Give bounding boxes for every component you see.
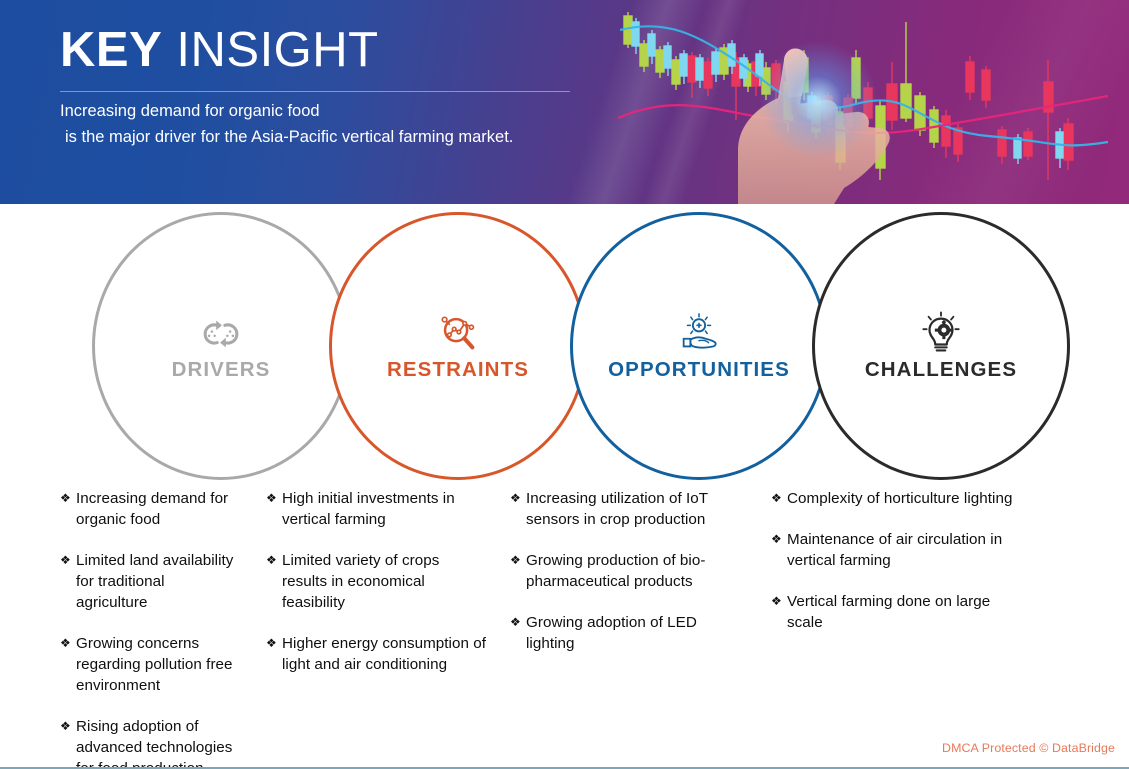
node-challenges[interactable]: CHALLENGES [812,212,1070,480]
column-drivers: ❖ Increasing demand for organic food ❖ L… [0,489,252,745]
bullet-diamond-icon: ❖ [510,489,526,508]
node-drivers-content: DRIVERS [92,212,350,480]
node-drivers-label: DRIVERS [172,358,271,382]
list-item: ❖ Vertical farming done on large scale [771,592,1017,634]
list-item: ❖ Limited land availability for traditio… [60,551,240,614]
node-opportunities-label: OPPORTUNITIES [608,358,790,382]
bullet-diamond-icon: ❖ [60,489,76,508]
list-item: ❖ Increasing demand for organic food [60,489,240,531]
banner-subtitle-line1: Increasing demand for organic food [60,102,320,120]
node-opportunities[interactable]: OPPORTUNITIES [570,212,828,480]
list-item: ❖ Rising adoption of advanced technologi… [60,717,240,769]
dmca-credit: DMCA Protected © DataBridge [942,741,1115,755]
list-item: ❖ Limited variety of crops results in ec… [266,551,488,614]
node-restraints-content: RESTRAINTS [329,212,587,480]
candlestick-chart-icon [588,0,1129,204]
list-item-text: Limited variety of crops results in econ… [282,551,488,614]
list-item-text: Increasing demand for organic food [76,489,240,531]
bullet-diamond-icon: ❖ [510,551,526,570]
list-item: ❖ Increasing utilization of IoT sensors … [510,489,747,531]
list-item-text: Growing production of bio-pharmaceutical… [526,551,747,593]
stock-chart-artwork [588,0,1129,204]
list-item: ❖ Growing adoption of LED lighting [510,613,747,655]
page-title-bold: KEY [60,23,162,77]
list-item-text: High initial investments in vertical far… [282,489,488,531]
bullet-diamond-icon: ❖ [60,551,76,570]
banner-subtitle: Increasing demand for organic food is th… [60,99,620,150]
list-item: ❖ Complexity of horticulture lighting [771,489,1017,510]
list-item-text: Growing adoption of LED lighting [526,613,747,655]
list-item: ❖ High initial investments in vertical f… [266,489,488,531]
hand-holding-sun-icon [676,311,722,355]
bullet-columns: ❖ Increasing demand for organic food ❖ L… [0,489,1129,745]
bullet-diamond-icon: ❖ [266,489,282,508]
magnifier-analytics-icon [435,311,481,355]
list-item: ❖ Maintenance of air circulation in vert… [771,530,1017,572]
node-drivers[interactable]: DRIVERS [92,212,350,480]
title-divider [60,91,570,92]
list-item-text: Rising adoption of advanced technologies… [76,717,240,769]
bullet-diamond-icon: ❖ [266,551,282,570]
bullet-diamond-icon: ❖ [266,634,282,653]
list-item-text: Limited land availability for traditiona… [76,551,240,614]
header-banner: KEY INSIGHT Increasing demand for organi… [0,0,1129,204]
list-item-text: Increasing utilization of IoT sensors in… [526,489,747,531]
node-challenges-label: CHALLENGES [865,358,1017,382]
infographic-page: KEY INSIGHT Increasing demand for organi… [0,0,1129,769]
lightbulb-gear-icon [918,311,964,355]
bullet-diamond-icon: ❖ [771,530,787,549]
banner-subtitle-line2: is the major driver for the Asia-Pacific… [60,125,620,151]
list-item: ❖ Growing production of bio-pharmaceutic… [510,551,747,593]
list-item-text: Growing concerns regarding pollution fre… [76,634,240,697]
bullet-diamond-icon: ❖ [60,717,76,736]
list-item-text: Complexity of horticulture lighting [787,489,1012,510]
page-title: KEY INSIGHT [60,24,379,78]
cycle-arrows-icon [198,311,244,355]
list-item: ❖ Growing concerns regarding pollution f… [60,634,240,697]
list-item-text: Maintenance of air circulation in vertic… [787,530,1017,572]
node-restraints[interactable]: RESTRAINTS [329,212,587,480]
node-restraints-label: RESTRAINTS [387,358,529,382]
process-flow-diagram: DRIVERS [0,204,1129,494]
list-item-text: Higher energy consumption of light and a… [282,634,488,676]
bullet-diamond-icon: ❖ [60,634,76,653]
page-title-light: INSIGHT [176,23,378,77]
list-item-text: Vertical farming done on large scale [787,592,1017,634]
bullet-diamond-icon: ❖ [771,592,787,611]
bullet-diamond-icon: ❖ [510,613,526,632]
column-opportunities: ❖ Increasing utilization of IoT sensors … [500,489,759,745]
node-challenges-content: CHALLENGES [812,212,1070,480]
column-challenges: ❖ Complexity of horticulture lighting ❖ … [759,489,1029,745]
list-item: ❖ Higher energy consumption of light and… [266,634,488,676]
bullet-diamond-icon: ❖ [771,489,787,508]
node-opportunities-content: OPPORTUNITIES [570,212,828,480]
column-restraints: ❖ High initial investments in vertical f… [252,489,500,745]
